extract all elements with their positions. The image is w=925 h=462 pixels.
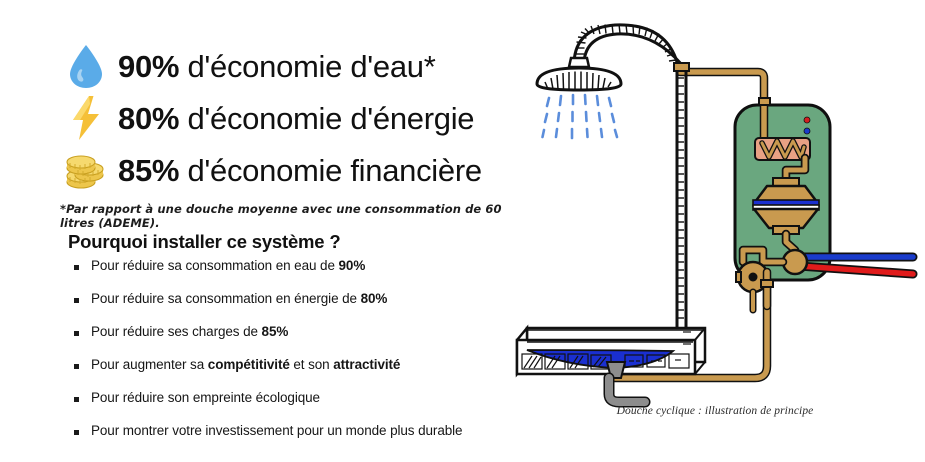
bullet-text: Pour réduire son empreinte écologique bbox=[91, 390, 320, 406]
shower-arm-outer bbox=[574, 25, 677, 62]
inlet-coupling bbox=[759, 98, 770, 105]
stat-label-money: d'économie financière bbox=[187, 153, 481, 188]
riser-hatching bbox=[678, 78, 684, 318]
water-drop-icon bbox=[62, 42, 110, 90]
bullet-marker-icon bbox=[74, 364, 79, 369]
shower-head bbox=[537, 58, 621, 90]
stat-text-money: 85% d'économie financière bbox=[118, 155, 482, 186]
stat-row-energy: 80% d'économie d'énergie bbox=[62, 94, 512, 142]
bullet-strong: 80% bbox=[361, 291, 388, 306]
left-content-column: 90% d'économie d'eau* 80% d'économie d'é… bbox=[0, 0, 520, 462]
pump-hub-icon bbox=[749, 273, 758, 282]
section-title: Pourquoi installer ce système ? bbox=[68, 231, 340, 253]
lightning-bolt-icon bbox=[62, 94, 110, 142]
bullet-marker-icon bbox=[74, 331, 79, 336]
illustration-caption: Douche cyclique : illustration de princi… bbox=[505, 405, 925, 417]
bullet-text: Pour augmenter sa compétitivité et son a… bbox=[91, 357, 400, 373]
supply-pipe bbox=[680, 72, 764, 106]
bullet-post: et son bbox=[290, 357, 333, 372]
cyclic-shower-illustration bbox=[505, 10, 925, 410]
bullet-pre: Pour réduire sa consommation en eau de bbox=[91, 258, 339, 273]
arm-riser-coupling bbox=[674, 63, 689, 71]
list-item: Pour réduire sa consommation en énergie … bbox=[74, 291, 504, 307]
stat-value-energy: 80% bbox=[118, 101, 179, 136]
benefits-list: Pour réduire sa consommation en eau de 9… bbox=[74, 258, 504, 456]
coins-stack-icon bbox=[62, 146, 110, 194]
shower-arm-inner bbox=[584, 34, 686, 70]
tray-right-edge-bottom bbox=[695, 362, 705, 374]
stat-text-water: 90% d'économie d'eau* bbox=[118, 51, 436, 82]
list-item: Pour réduire sa consommation en eau de 9… bbox=[74, 258, 504, 274]
bullet-strong-2: attractivité bbox=[333, 357, 400, 372]
bullet-text: Pour montrer votre investissement pour u… bbox=[91, 423, 462, 439]
arm-hatching bbox=[575, 24, 676, 61]
bullet-text: Pour réduire sa consommation en énergie … bbox=[91, 291, 387, 307]
bullet-marker-icon bbox=[74, 430, 79, 435]
water-spray bbox=[543, 95, 618, 138]
bullet-strong: 90% bbox=[339, 258, 366, 273]
stat-value-water: 90% bbox=[118, 49, 179, 84]
shower-head-neck bbox=[569, 58, 589, 67]
stat-label-water: d'économie d'eau* bbox=[187, 49, 435, 84]
pump-side-port bbox=[736, 272, 741, 282]
bullet-pre: Pour réduire ses charges de bbox=[91, 324, 262, 339]
list-item: Pour réduire ses charges de 85% bbox=[74, 324, 504, 340]
outlet-coupling bbox=[761, 280, 773, 287]
led-indicator-blue bbox=[804, 128, 810, 134]
bullet-pre: Pour augmenter sa bbox=[91, 357, 208, 372]
stat-label-energy: d'économie d'énergie bbox=[187, 101, 474, 136]
list-item: Pour montrer votre investissement pour u… bbox=[74, 423, 504, 439]
infographic-page: 90% d'économie d'eau* 80% d'économie d'é… bbox=[0, 0, 925, 462]
bullet-marker-icon bbox=[74, 298, 79, 303]
bullet-text: Pour réduire sa consommation en eau de 9… bbox=[91, 258, 365, 274]
bullet-pre: Pour réduire sa consommation en énergie … bbox=[91, 291, 361, 306]
led-indicator-red bbox=[804, 117, 810, 123]
supply-pipe-outline bbox=[680, 72, 764, 106]
stat-row-money: 85% d'économie financière bbox=[62, 146, 512, 194]
bullet-marker-icon bbox=[74, 265, 79, 270]
stat-text-energy: 80% d'économie d'énergie bbox=[118, 103, 474, 134]
stats-list: 90% d'économie d'eau* 80% d'économie d'é… bbox=[62, 42, 512, 198]
bullet-strong: compétitivité bbox=[208, 357, 290, 372]
footnote-text: *Par rapport à une douche moyenne avec u… bbox=[60, 202, 520, 230]
bullet-strong: 85% bbox=[262, 324, 289, 339]
list-item: Pour réduire son empreinte écologique bbox=[74, 390, 504, 406]
bullet-text: Pour réduire ses charges de 85% bbox=[91, 324, 288, 340]
bullet-marker-icon bbox=[74, 397, 79, 402]
list-item: Pour augmenter sa compétitivité et son a… bbox=[74, 357, 504, 373]
stat-row-water: 90% d'économie d'eau* bbox=[62, 42, 512, 90]
stat-value-money: 85% bbox=[118, 153, 179, 188]
